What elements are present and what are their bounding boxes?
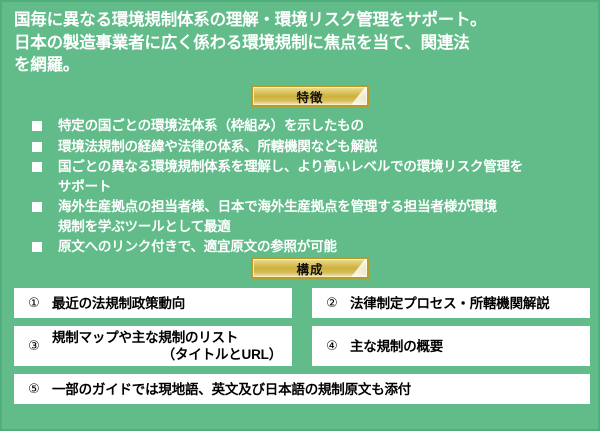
structure-item-1[interactable]: ① 最近の法規制政策動向 [14, 288, 292, 318]
features-list: 特定の国ごとの環境法体系（枠組み）を示したもの 環境法規制の経緯や法律の体系、所… [32, 116, 592, 258]
structure-item-label: 一部のガイドでは現地語、英文及び日本語の規制原文も添付 [46, 381, 582, 398]
square-bullet-icon [32, 202, 42, 212]
list-item-label: 環境法規制の経緯や法律の体系、所轄機関なども解説 [58, 137, 592, 157]
structure-row: ③ 規制マップや主な規制のリスト（タイトルとURL） ④ 主な規制の概要 [14, 326, 590, 366]
structure-item-5[interactable]: ⑤ 一部のガイドでは現地語、英文及び日本語の規制原文も添付 [14, 374, 590, 404]
structure-item-label: 主な規制の概要 [344, 338, 582, 355]
structure-item-number: ⑤ [22, 381, 46, 397]
banner-shine-icon [342, 257, 369, 279]
structure-grid: ① 最近の法規制政策動向 ② 法律制定プロセス・所轄機関解説 ③ 規制マップや主… [14, 288, 590, 412]
square-bullet-icon [32, 121, 42, 131]
structure-banner-label: 構成 [296, 259, 323, 278]
list-item: 国ごとの異なる環境規制体系を理解し、より高いレベルでの環境リスク管理を サポート [32, 157, 592, 196]
structure-banner: 構成 [251, 257, 369, 279]
list-item-label: 特定の国ごとの環境法体系（枠組み）を示したもの [58, 116, 592, 136]
features-banner: 特徴 [251, 85, 369, 107]
slide-root: 国毎に異なる環境規制体系の理解・環境リスク管理をサポート。 日本の製造事業者に広… [0, 0, 600, 431]
list-item-label: 原文へのリンク付きで、適宜原文の参照が可能 [58, 237, 592, 257]
square-bullet-icon [32, 242, 42, 252]
list-item: 海外生産拠点の担当者様、日本で海外生産拠点を管理する担当者様が環境 規制を学ぶツ… [32, 197, 592, 236]
structure-row: ① 最近の法規制政策動向 ② 法律制定プロセス・所轄機関解説 [14, 288, 590, 318]
structure-item-label: 最近の法規制政策動向 [46, 295, 284, 312]
structure-item-number: ④ [320, 338, 344, 354]
structure-item-4[interactable]: ④ 主な規制の概要 [312, 326, 590, 366]
list-item: 原文へのリンク付きで、適宜原文の参照が可能 [32, 237, 592, 257]
square-bullet-icon [32, 142, 42, 152]
structure-row: ⑤ 一部のガイドでは現地語、英文及び日本語の規制原文も添付 [14, 374, 590, 404]
structure-item-label-line2: （タイトルとURL） [52, 346, 284, 363]
list-item: 特定の国ごとの環境法体系（枠組み）を示したもの [32, 116, 592, 136]
structure-item-2[interactable]: ② 法律制定プロセス・所轄機関解説 [312, 288, 590, 318]
headline-text: 国毎に異なる環境規制体系の理解・環境リスク管理をサポート。 日本の製造事業者に広… [14, 9, 590, 77]
structure-item-label: 法律制定プロセス・所轄機関解説 [344, 295, 582, 312]
features-banner-label: 特徴 [296, 87, 323, 106]
structure-item-3[interactable]: ③ 規制マップや主な規制のリスト（タイトルとURL） [14, 326, 292, 366]
structure-item-label: 規制マップや主な規制のリスト（タイトルとURL） [46, 329, 284, 363]
structure-item-number: ③ [22, 338, 46, 354]
list-item-label: 海外生産拠点の担当者様、日本で海外生産拠点を管理する担当者様が環境 規制を学ぶツ… [58, 197, 592, 236]
structure-item-number: ② [320, 295, 344, 311]
list-item-label: 国ごとの異なる環境規制体系を理解し、より高いレベルでの環境リスク管理を サポート [58, 157, 592, 196]
square-bullet-icon [32, 162, 42, 172]
structure-item-label-line1: 規制マップや主な規制のリスト [52, 330, 238, 345]
structure-item-number: ① [22, 295, 46, 311]
list-item: 環境法規制の経緯や法律の体系、所轄機関なども解説 [32, 137, 592, 157]
banner-shine-icon [342, 85, 369, 107]
